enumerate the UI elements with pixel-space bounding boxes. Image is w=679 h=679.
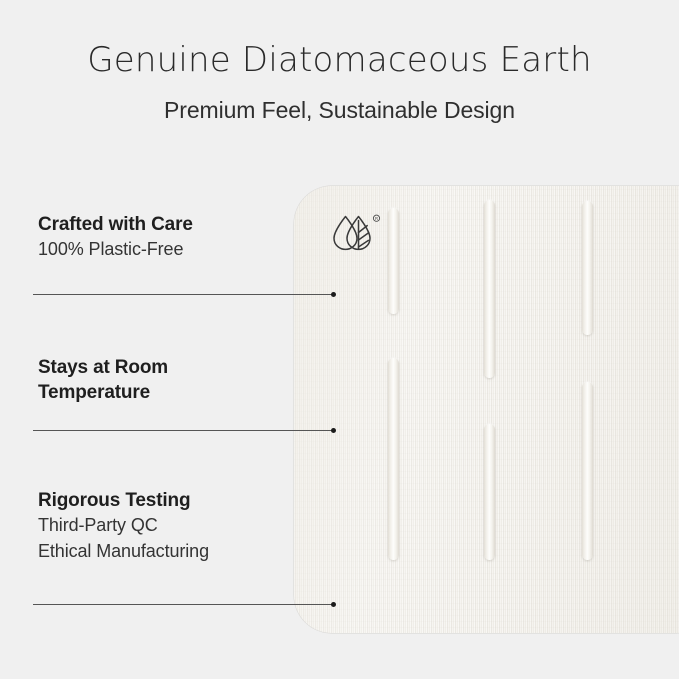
infographic-canvas: Genuine Diatomaceous Earth Premium Feel,… <box>0 0 679 679</box>
callout-heading: Stays at Room Temperature <box>38 355 308 405</box>
surface-groove <box>388 358 399 560</box>
product-panel: R <box>294 186 679 633</box>
header: Genuine Diatomaceous Earth Premium Feel,… <box>0 0 679 124</box>
callout-heading: Rigorous Testing <box>38 488 308 513</box>
leader-dot-1 <box>331 292 336 297</box>
leader-line-2 <box>33 430 333 431</box>
page-title: Genuine Diatomaceous Earth <box>0 0 679 79</box>
svg-text:R: R <box>375 216 378 221</box>
callout-crafted-with-care: Crafted with Care 100% Plastic-Free <box>38 212 308 263</box>
callout-subline: Third-Party QC <box>38 513 308 539</box>
leader-dot-3 <box>331 602 336 607</box>
callout-stays-at-room-temperature: Stays at Room Temperature <box>38 355 308 405</box>
callout-subline: 100% Plastic-Free <box>38 237 308 263</box>
callout-heading: Crafted with Care <box>38 212 308 237</box>
brand-logo-icon: R <box>325 208 387 260</box>
page-subtitle: Premium Feel, Sustainable Design <box>0 79 679 123</box>
callout-rigorous-testing: Rigorous Testing Third-Party QC Ethical … <box>38 488 308 564</box>
surface-groove <box>484 424 495 560</box>
surface-groove <box>582 201 593 335</box>
surface-groove <box>388 208 399 314</box>
registered-trademark-mark: R <box>373 215 379 221</box>
surface-groove <box>484 200 495 378</box>
leader-line-1 <box>33 294 333 295</box>
callout-subline: Ethical Manufacturing <box>38 539 308 565</box>
leader-line-3 <box>33 604 333 605</box>
surface-groove <box>582 382 593 560</box>
leader-dot-2 <box>331 428 336 433</box>
